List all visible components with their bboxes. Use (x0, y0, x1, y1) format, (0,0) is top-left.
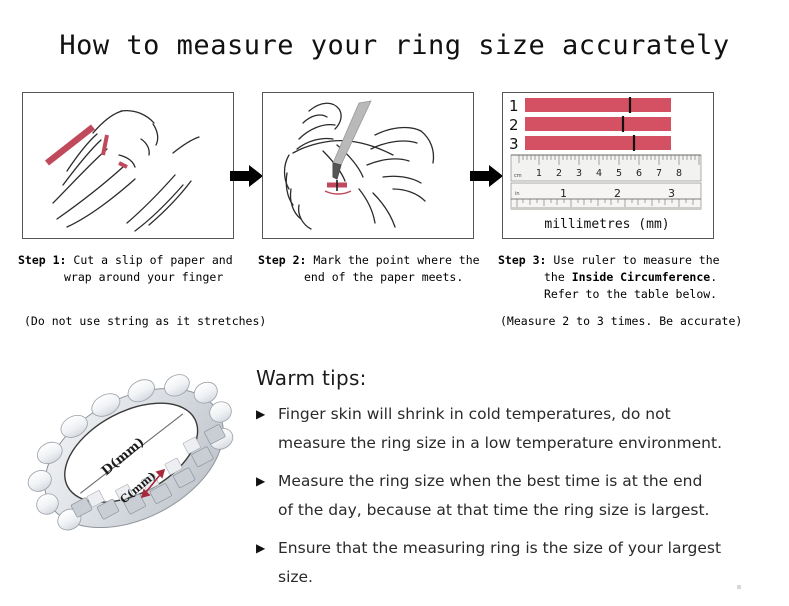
step-2-line1: Mark the point where the (313, 253, 479, 267)
step-2-caption: Step 2: Mark the point where the end of … (258, 252, 494, 286)
step-1-label: Step 1: (18, 253, 66, 267)
step-2-to-3-arrow (470, 163, 504, 189)
tip-3-line-1: Ensure that the measuring ring is the si… (278, 534, 766, 563)
step-2-line2: end of the paper meets. (258, 269, 494, 286)
svg-text:5: 5 (616, 168, 622, 179)
step-1-note: (Do not use string as it stretches) (24, 314, 266, 328)
step-3-line1: Use ruler to measure the (553, 253, 719, 267)
ruler-caption: millimetres (mm) (544, 217, 669, 232)
corner-artifact (737, 585, 741, 589)
tip-item: ▶ Finger skin will shrink in cold temper… (256, 400, 766, 458)
right-arrow-icon (470, 163, 504, 189)
svg-text:3: 3 (668, 187, 675, 200)
step-3-note: (Measure 2 to 3 times. Be accurate) (500, 314, 742, 328)
svg-text:3: 3 (576, 168, 582, 179)
tip-item: ▶ Measure the ring size when the best ti… (256, 467, 766, 525)
svg-text:7: 7 (656, 168, 662, 179)
svg-text:6: 6 (636, 168, 642, 179)
warm-tips-heading: Warm tips: (256, 366, 367, 390)
svg-text:1: 1 (536, 168, 542, 179)
step-1-illustration-panel (22, 92, 234, 239)
step-3-line2-post: . (710, 270, 717, 284)
bullet-triangle-icon: ▶ (256, 400, 265, 429)
svg-text:2: 2 (614, 187, 621, 200)
step-3-label: Step 3: (498, 253, 546, 267)
tip-2-line-2: of the day, because at that time the rin… (278, 496, 766, 525)
inside-circumference-emphasis: Inside Circumference (572, 270, 710, 284)
step-1-line1: Cut a slip of paper and (73, 253, 232, 267)
svg-text:2: 2 (556, 168, 562, 179)
bullet-triangle-icon: ▶ (256, 534, 265, 563)
diamond-eternity-ring-icon: D(mm) C(mm) (18, 352, 250, 564)
step-2-illustration-panel (262, 92, 474, 239)
svg-text:in: in (515, 191, 520, 197)
step-3-caption: Step 3: Use ruler to measure the the Ins… (498, 252, 748, 303)
step-2-label: Step 2: (258, 253, 306, 267)
tip-1-line-2: measure the ring size in a low temperatu… (278, 429, 766, 458)
bullet-triangle-icon: ▶ (256, 467, 265, 496)
tip-2-line-1: Measure the ring size when the best time… (278, 467, 766, 496)
step-3-line2-pre: the (544, 270, 572, 284)
step-3-line2: the Inside Circumference. (498, 269, 748, 286)
svg-text:1: 1 (560, 187, 567, 200)
strip-label-3: 3 (509, 135, 519, 153)
ring-size-guide-page: How to measure your ring size accurately (0, 0, 789, 606)
tip-1-line-1: Finger skin will shrink in cold temperat… (278, 400, 766, 429)
step-3-illustration-panel: 1 2 3 (502, 92, 714, 239)
svg-text:cm: cm (514, 173, 522, 179)
hand-marking-paper-with-pen-icon (263, 93, 471, 236)
right-arrow-icon (230, 163, 264, 189)
strip-label-2: 2 (509, 116, 519, 134)
svg-text:8: 8 (676, 168, 682, 179)
tip-3-line-2: size. (278, 563, 766, 592)
step-1-caption: Step 1: Cut a slip of paper and wrap aro… (18, 252, 254, 286)
warm-tips-list: ▶ Finger skin will shrink in cold temper… (256, 400, 766, 601)
step-3-line3: Refer to the table below. (498, 286, 748, 303)
svg-text:4: 4 (596, 168, 602, 179)
page-title: How to measure your ring size accurately (0, 30, 789, 61)
step-1-to-2-arrow (230, 163, 264, 189)
step-1-line2: wrap around your finger (18, 269, 254, 286)
hand-with-paper-strip-icon (23, 93, 231, 236)
strip-label-1: 1 (509, 97, 519, 115)
tip-item: ▶ Ensure that the measuring ring is the … (256, 534, 766, 592)
ring-diagram: D(mm) C(mm) (18, 352, 250, 564)
ruler-with-paper-strips-icon: 1 2 3 (503, 93, 711, 236)
